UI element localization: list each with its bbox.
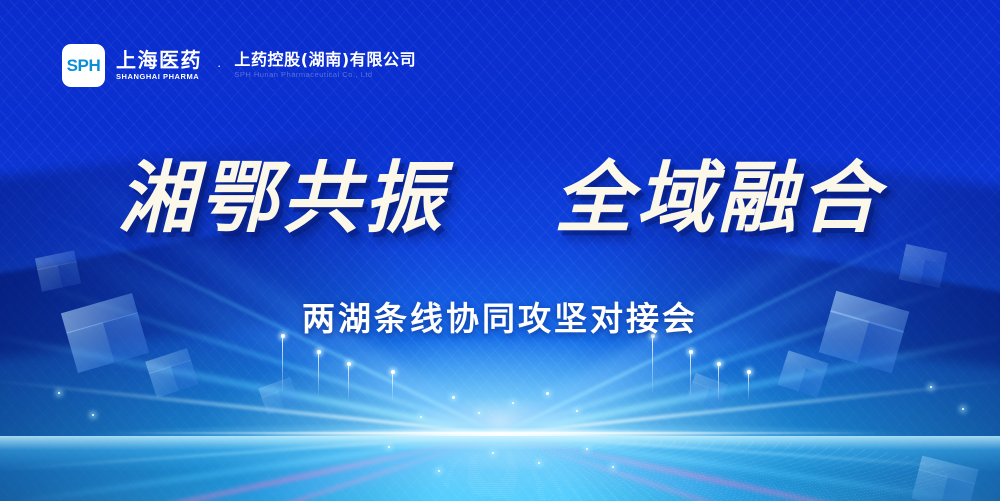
cube-face-left [37,265,62,292]
cube-right-upper [899,244,948,288]
logo-bar: SPH 上海医药 SHANGHAI PHARMA · 上药控股(湖南)有限公司 … [62,44,416,87]
ground-reflection [0,436,1000,501]
star-dot-7 [492,452,494,454]
cube-face-top [35,250,77,270]
cube-left-upper [35,250,81,292]
cube-face-right [58,261,82,288]
star-dot-12 [388,446,390,448]
cube-face-left [912,469,948,501]
cube-face-left [686,381,709,405]
star-dot-13 [930,386,932,388]
headline: 湘鄂共振 全域融合 [0,160,1000,238]
light-pole-8 [748,372,749,400]
beam-right-white-1 [500,378,1000,436]
cube-face-left [777,361,805,391]
star-dot-14 [962,408,964,410]
star-dot-5 [576,410,578,412]
star-dot-9 [586,448,588,450]
beam-left-white-2 [0,433,500,471]
logo-separator-dot: · [217,58,221,73]
star-dot-10 [612,466,614,468]
company-name-en: SPH Hunan Pharmaceutical Co., Ltd [234,71,416,79]
company-name-block: 上药控股(湖南)有限公司 SPH Hunan Pharmaceutical Co… [234,52,416,79]
event-banner: SPH 上海医药 SHANGHAI PHARMA · 上药控股(湖南)有限公司 … [0,0,1000,501]
cube-face-left [149,366,179,398]
beam-left-cyan-4 [0,431,500,501]
light-pole-3 [348,364,349,400]
star-dot-16 [92,414,94,416]
cube-face-right [278,385,300,408]
beam-right-white-2 [500,433,1000,471]
beam-right-cyan-4 [500,431,1000,501]
beam-right-blue-3 [497,423,1000,501]
light-pole-7 [718,364,719,400]
company-name-cn: 上药控股(湖南)有限公司 [234,52,416,68]
beam-left-blue-3 [0,423,503,501]
headline-part-2: 全域融合 [554,153,882,244]
cube-face-top [693,373,728,394]
light-pole-1 [282,336,283,392]
cube-face-right [703,387,725,410]
beam-right-cyan-1 [499,328,1000,438]
ground-ripple [430,440,950,501]
headline-part-1: 湘鄂共振 [118,153,446,244]
cube-face-left [899,255,925,283]
star-dot-11 [438,470,440,472]
cube-mid-right [686,373,728,411]
horizon-line [120,432,880,434]
beam-right-pink-1 [499,432,1000,501]
cube-left-small [145,348,199,398]
cube-face-top [785,350,829,375]
brand-name-en: SHANGHAI PHARMA [116,73,202,81]
beam-left-pink-1 [0,432,501,501]
cube-right-small [777,350,828,397]
star-dot-4 [546,392,549,395]
cube-face-top [919,456,979,485]
cube-face-right [920,260,945,288]
cube-face-top [258,377,293,398]
cube-mid-left [258,377,300,415]
beam-left-cyan-1 [0,328,501,438]
cube-face-top [904,244,948,265]
cube-face-top [145,348,191,374]
cube-face-left [261,391,284,415]
light-pole-4 [392,372,393,400]
light-pole-5 [652,336,653,392]
light-pole-2 [318,352,319,396]
cube-bottom-right [912,456,979,501]
cube-face-right [171,360,199,391]
brand-name-cn: 上海医药 [116,50,202,70]
star-dot-3 [512,402,514,404]
cube-face-right [798,368,825,397]
star-dot-6 [420,416,422,418]
star-dot-2 [478,412,480,414]
sph-logo-icon: SPH [62,44,105,87]
star-dot-1 [452,396,455,399]
beam-left-white-1 [0,378,500,436]
subtitle: 两湖条线协同攻坚对接会 [0,292,1000,340]
beam-right-pink-2 [500,433,1000,501]
brand-name-block: 上海医药 SHANGHAI PHARMA [116,50,202,81]
star-dot-15 [58,392,60,394]
star-dot-8 [538,462,540,464]
beam-left-pink-2 [0,433,500,501]
light-pole-6 [690,352,691,396]
horizon-glow [0,418,1000,452]
cube-face-right [941,477,975,501]
